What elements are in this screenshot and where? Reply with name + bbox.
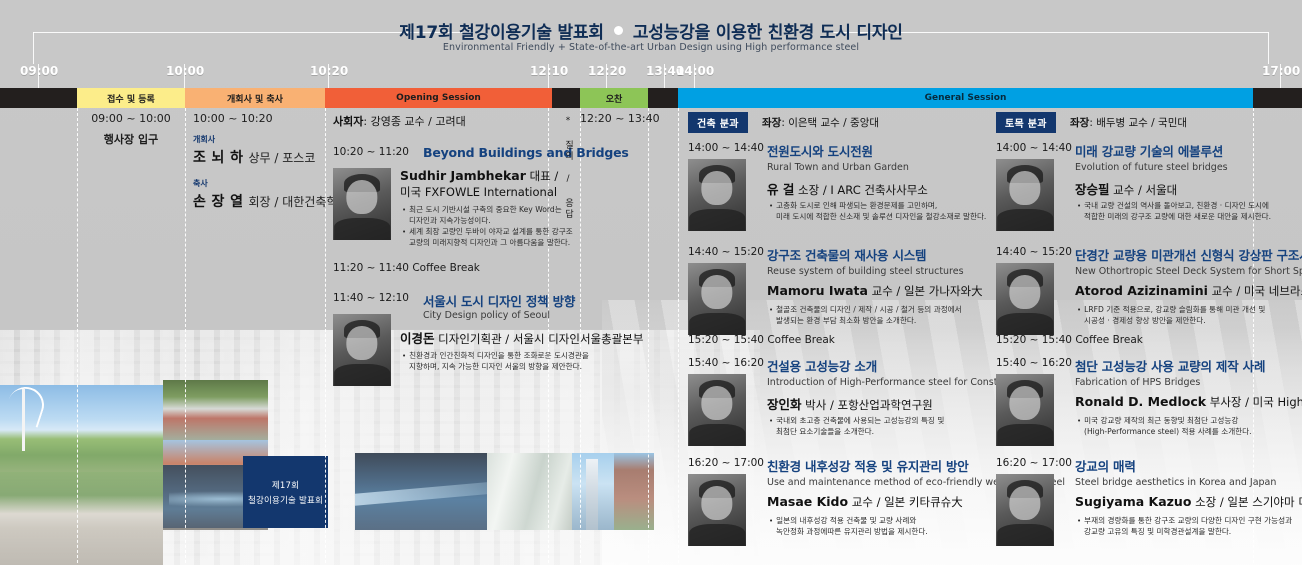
registration-time: 09:00 ~ 10:00 (77, 112, 185, 125)
opening-session-0-portrait (333, 168, 391, 240)
separator-7 (678, 108, 679, 563)
timeline-tick-0900 (38, 64, 39, 88)
poster-header: 제17회 철강이용기술 발표회 고성능강을 이용한 친환경 도시 디자인 Env… (0, 0, 1302, 62)
bullet: 세계 최장 교량인 두바이 야자교 설계를 통한 강구조 (402, 226, 573, 237)
circle-dot-icon (614, 26, 623, 35)
photo-wind-farm (0, 385, 163, 475)
title-event-name: 제17회 철강이용기술 발표회 (399, 18, 604, 43)
page-subtitle: Environmental Friendly + State-of-the-ar… (0, 42, 1302, 53)
arch-session-1-portrait (688, 263, 746, 335)
remarks-item-1: 축사 손 장 열 회장 / 대한건축학회 (193, 178, 321, 211)
bullet: 고층화 도시로 인해 파생되는 환경문제를 고민하며, (769, 200, 986, 211)
bullet: 최근 도시 기반시설 구축의 중요한 Key Word는 (402, 204, 573, 215)
opening-session-1-speaker: 이경돈 디자인기획관 / 서울시 디자인서울총괄본부 (400, 328, 643, 347)
remarks-name-0: 조 뇌 하 (193, 150, 243, 166)
separator-6 (648, 108, 649, 563)
arch-session-2-time: 15:40 ~ 16:20 (688, 357, 764, 369)
bullet: 일본의 내후성강 적용 건축물 및 교량 사례와 (769, 515, 928, 526)
civil-session-0-bullets: 국내 교량 건설의 역사를 돌아보고, 친환경 · 디자인 도시에 적합한 미래… (1077, 200, 1271, 222)
timeline-tick-1340 (664, 64, 665, 88)
opening-session-1-portrait (333, 314, 391, 386)
bullet: 친환경과 인간친화적 디자인을 통한 조화로운 도시경관을 (402, 350, 589, 361)
separator-2 (185, 108, 186, 563)
segment-general-session[interactable]: General Session (678, 88, 1253, 108)
opening-moderator-label: 사회자 (333, 115, 363, 128)
arch-session-2-bullets: 국내외 초고층 건축물에 사용되는 고성능강의 특징 및 최첨단 요소기술들을 … (769, 415, 944, 437)
civil-session-3-time: 16:20 ~ 17:00 (996, 457, 1072, 469)
bullet: 최첨단 요소기술들을 소개한다. (769, 426, 944, 437)
arch-session-0-speaker-name: 유 걸 (767, 182, 794, 197)
opening-coffee-break: 11:20 ~ 11:40 Coffee Break (333, 262, 480, 274)
arch-session-0-en-title: Rural Town and Urban Garden (767, 162, 909, 173)
opening-session-1-time: 11:40 ~ 12:10 (333, 292, 409, 304)
timeline-tick-1000 (184, 64, 185, 88)
remarks-role-0: 개회사 (193, 134, 321, 145)
arch-session-1-speaker-rest: 교수 / 일본 가나자와大 (872, 284, 983, 298)
arch-session-2-speaker-rest: 박사 / 포항산업과학연구원 (805, 398, 933, 412)
arch-session-3-title: 친환경 내후성강 적용 및 유지관리 방안 (767, 456, 969, 475)
registration-place: 행사장 입구 (77, 131, 185, 147)
bullet: 디자인과 지속가능성이다. (402, 215, 573, 226)
bullet: 강교량 고유의 특징 및 미학경관설계을 말한다. (1077, 526, 1292, 537)
timeline-tick-1020 (328, 64, 329, 88)
bullet: 미국 강교량 제작의 최근 동향및 최첨단 고성능강 (1077, 415, 1252, 426)
opening-session-0-title: Beyond Buildings and Bridges (423, 145, 629, 160)
track-arch-chair-label: 좌장 (762, 117, 781, 129)
arch-session-0-portrait (688, 159, 746, 231)
civil-session-2-portrait (996, 374, 1054, 446)
separator-1 (77, 108, 78, 563)
poster-root: 제17회 철강이용기술 발표회 제17회 철강이용기술 발표회 고성능강을 이용… (0, 0, 1302, 565)
opening-session-0-time: 10:20 ~ 11:20 (333, 146, 409, 158)
arch-session-1-en-title: Reuse system of building steel structure… (767, 266, 964, 277)
arch-session-3-bullets: 일본의 내후성강 적용 건축물 및 교량 사례와 녹안정화 과정에따른 유지관리… (769, 515, 928, 537)
arch-session-0-speaker: 유 걸 소장 / I ARC 건축사사무소 (767, 179, 928, 198)
bullet: 녹안정화 과정에따른 유지관리 방법을 제시한다. (769, 526, 928, 537)
opening-session-0-affil: 미국 FXFOWLE International (400, 184, 557, 200)
bullet: 미래 도시에 적합한 신소재 및 솔루션 디자인을 철강소재로 말한다. (769, 211, 986, 222)
opening-session-0-speaker: Sudhir Jambhekar 대표 / (400, 168, 558, 184)
civil-session-3-portrait (996, 474, 1054, 546)
timeline-label-1000: 10:00 (166, 64, 204, 78)
arch-session-2-speaker-name: 장인화 (767, 397, 802, 412)
segment-lunch[interactable]: 오찬 (580, 88, 648, 108)
timeline-label-1700: 17:00 (1262, 64, 1300, 78)
arch-session-0-bullets: 고층화 도시로 인해 파생되는 환경문제를 고민하며, 미래 도시에 적합한 신… (769, 200, 986, 222)
civil-coffee-break: 15:20 ~ 15:40 Coffee Break (996, 334, 1143, 346)
civil-session-3-en-title: Steel bridge aesthetics in Korea and Jap… (1075, 477, 1276, 488)
arch-session-1-title: 강구조 건축물의 재사용 시스템 (767, 245, 926, 264)
arch-session-3-speaker-rest: 교수 / 일본 키타큐슈大 (852, 495, 963, 509)
page-title: 제17회 철강이용기술 발표회 고성능강을 이용한 친환경 도시 디자인 (0, 18, 1302, 43)
track-arch-chip: 건축 분과 (688, 112, 748, 133)
bullet: 부재의 경량화를 통한 강구조 교량의 다양한 디자인 구현 가능성과 (1077, 515, 1292, 526)
segment-opening-remarks[interactable]: 개회사 및 축사 (185, 88, 325, 108)
bullet: 적합한 미래의 강구조 교량에 대한 새로운 대안을 제시한다. (1077, 211, 1271, 222)
arch-session-1-bullets: 철골조 건축물의 디자인 / 제작 / 시공 / 철거 등의 과정에서 발생되는… (769, 304, 962, 326)
civil-session-0-portrait (996, 159, 1054, 231)
segment-registration[interactable]: 접수 및 등록 (77, 88, 185, 108)
timeline-label-0900: 09:00 (20, 64, 58, 78)
civil-session-0-time: 14:00 ~ 14:40 (996, 142, 1072, 154)
timeline-tick-1400 (694, 64, 695, 88)
timeline-label-1220: 12:20 (588, 64, 626, 78)
civil-session-2-speaker-rest: 부사장 / 미국 High Steel Structures, Inc. (1210, 395, 1302, 409)
arch-session-1-speaker-name: Mamoru Iwata (767, 283, 868, 298)
track-arch-chair-value: : 이은택 교수 / 중앙대 (781, 117, 879, 129)
photo-eco-houses (163, 380, 268, 440)
timeline-label-1400: 14:00 (676, 64, 714, 78)
civil-session-1-title: 단경간 교량용 미관개선 신형식 강상판 구조시스템 (1075, 245, 1302, 264)
civil-session-0-en-title: Evolution of future steel bridges (1075, 162, 1228, 173)
civil-session-0-speaker: 장승필 교수 / 서울대 (1075, 179, 1177, 198)
bullet: 철골조 건축물의 디자인 / 제작 / 시공 / 철거 등의 과정에서 (769, 304, 962, 315)
column-registration: 09:00 ~ 10:00 행사장 입구 (77, 112, 185, 147)
bullet: 교량의 미래지향적 디자인과 그 아름다움을 말한다. (402, 237, 573, 248)
track-civil-chair: 좌장: 배두병 교수 / 국민대 (1070, 115, 1187, 130)
opening-session-1-speaker-title: 디자인기획관 / 서울시 디자인서울총괄본부 (438, 332, 643, 346)
civil-session-1-en-title: New Othortropic Steel Deck System for Sh… (1075, 266, 1302, 277)
column-opening-remarks: 10:00 ~ 10:20 개회사 조 뇌 하 상무 / 포스코 축사 손 장 … (193, 112, 321, 211)
remarks-time: 10:00 ~ 10:20 (193, 112, 321, 125)
timeline-label-1210: 12:10 (530, 64, 568, 78)
photo-skyscraper (572, 453, 614, 530)
civil-session-0-title: 미래 강교량 기술의 에볼루션 (1075, 141, 1223, 160)
arch-session-3-portrait (688, 474, 746, 546)
column-lunch: 12:20 ~ 13:40 (580, 112, 648, 125)
timeline-tick-1220 (606, 64, 607, 88)
opening-moderator: 사회자: 강영종 교수 / 고려대 (333, 113, 466, 129)
remarks-item-0: 개회사 조 뇌 하 상무 / 포스코 (193, 134, 321, 167)
remarks-title-0: 상무 / 포스코 (248, 151, 315, 165)
civil-session-2-speaker-name: Ronald D. Medlock (1075, 394, 1206, 409)
bullet: LRFD 기준 적용으로, 강교량 슬림화를 통해 미관 개선 및 (1077, 304, 1265, 315)
timeline-tick-1700 (1280, 64, 1281, 88)
bullet: 지향하며, 지속 가능한 디자인 서울의 방향을 제안한다. (402, 361, 589, 372)
segment-opening-session[interactable]: Opening Session (325, 88, 552, 108)
arch-coffee-break: 15:20 ~ 15:40 Coffee Break (688, 334, 835, 346)
qa-note-vertical: * 질의 / 응답 (556, 116, 572, 220)
opening-session-0-bullets: 최근 도시 기반시설 구축의 중요한 Key Word는 디자인과 지속가능성이… (402, 204, 573, 248)
arch-session-0-time: 14:00 ~ 14:40 (688, 142, 764, 154)
civil-session-0-speaker-name: 장승필 (1075, 182, 1110, 197)
opening-session-1-speaker-name: 이경돈 (400, 331, 435, 346)
arch-session-0-speaker-rest: 소장 / I ARC 건축사사무소 (798, 183, 928, 197)
arch-session-1-time: 14:40 ~ 15:20 (688, 246, 764, 258)
lunch-time: 12:20 ~ 13:40 (580, 112, 648, 125)
photo-village (0, 472, 163, 565)
arch-session-3-speaker: Masae Kido 교수 / 일본 키타큐슈大 (767, 494, 963, 510)
bullet: 국내 교량 건설의 역사를 돌아보고, 친환경 · 디자인 도시에 (1077, 200, 1271, 211)
opening-session-0-speaker-title: 대표 / (530, 169, 559, 183)
track-civil-chair-value: : 배두병 교수 / 국민대 (1089, 117, 1187, 129)
track-civil-chair-label: 좌장 (1070, 117, 1089, 129)
civil-session-2-bullets: 미국 강교량 제작의 최근 동향및 최첨단 고성능강 (High-Perform… (1077, 415, 1252, 437)
arch-session-3-time: 16:20 ~ 17:00 (688, 457, 764, 469)
bullet: (High-Performance steel) 적용 사례를 소개한다. (1077, 426, 1252, 437)
arch-session-1-speaker: Mamoru Iwata 교수 / 일본 가나자와大 (767, 283, 983, 299)
civil-session-3-speaker: Sugiyama Kazuo 소장 / 일본 스기야마 디자인 연구소 (1075, 494, 1302, 510)
arch-session-2-speaker: 장인화 박사 / 포항산업과학연구원 (767, 394, 933, 413)
civil-session-2-time: 15:40 ~ 16:20 (996, 357, 1072, 369)
separator-3 (325, 108, 326, 563)
civil-session-1-speaker: Atorod Azizinamini 교수 / 미국 네브라스카大 (1075, 283, 1302, 299)
bullet: 시공성 · 경제성 향상 방안을 제안한다. (1077, 315, 1265, 326)
track-civil-chip: 토목 분과 (996, 112, 1056, 133)
timeline-label-1020: 10:20 (310, 64, 348, 78)
civil-session-0-speaker-rest: 교수 / 서울대 (1113, 183, 1177, 197)
civil-session-2-title: 첨단 고성능강 사용 교량의 제작 사례 (1075, 356, 1265, 375)
track-arch-chair: 좌장: 이은택 교수 / 중앙대 (762, 115, 879, 130)
arch-session-2-title: 건설용 고성능강 소개 (767, 356, 877, 375)
montage-badge-line2: 철강이용기술 발표회 (248, 494, 323, 506)
opening-session-1-bullets: 친환경과 인간친화적 디자인을 통한 조화로운 도시경관을 지향하며, 지속 가… (402, 350, 589, 372)
opening-session-1-en-title: City Design policy of Seoul (423, 310, 550, 321)
civil-session-1-time: 14:40 ~ 15:20 (996, 246, 1072, 258)
civil-session-3-speaker-rest: 소장 / 일본 스기야마 디자인 연구소 (1195, 495, 1302, 509)
arch-session-2-portrait (688, 374, 746, 446)
opening-moderator-value: : 강영종 교수 / 고려대 (363, 115, 465, 128)
photo-shell-structure (487, 453, 572, 530)
montage-badge: 제17회 철강이용기술 발표회 (243, 456, 328, 528)
montage-badge-line1: 제17회 (272, 479, 299, 491)
timeline-labels: 09:0010:0010:2012:1012:2013:4014:0017:00 (0, 64, 1302, 86)
opening-session-1-title: 서울시 도시 디자인 정책 방향 (423, 291, 575, 310)
civil-session-1-speaker-rest: 교수 / 미국 네브라스카大 (1212, 284, 1302, 298)
title-theme: 고성능강을 이용한 친환경 도시 디자인 (633, 18, 903, 43)
arch-session-0-title: 전원도시와 도시전원 (767, 141, 873, 160)
timeline-tick-1210 (548, 64, 549, 88)
arch-session-2-en-title: Introduction of High-Performance steel f… (767, 377, 1031, 388)
civil-session-3-title: 강교의 매력 (1075, 456, 1136, 475)
arch-session-3-speaker-name: Masae Kido (767, 494, 848, 509)
civil-session-1-portrait (996, 263, 1054, 335)
civil-session-2-speaker: Ronald D. Medlock 부사장 / 미국 High Steel St… (1075, 394, 1302, 410)
civil-session-1-speaker-name: Atorod Azizinamini (1075, 283, 1208, 298)
remarks-role-1: 축사 (193, 178, 321, 189)
bullet: 발생되는 환경 부담 최소화 방안을 소개한다. (769, 315, 962, 326)
bullet: 국내외 초고층 건축물에 사용되는 고성능강의 특징 및 (769, 415, 944, 426)
civil-session-2-en-title: Fabrication of HPS Bridges (1075, 377, 1200, 388)
opening-session-0-speaker-name: Sudhir Jambhekar (400, 168, 526, 183)
remarks-name-1: 손 장 열 (193, 194, 243, 210)
civil-session-3-speaker-name: Sugiyama Kazuo (1075, 494, 1191, 509)
civil-session-1-bullets: LRFD 기준 적용으로, 강교량 슬림화를 통해 미관 개선 및 시공성 · … (1077, 304, 1265, 326)
civil-session-3-bullets: 부재의 경량화를 통한 강구조 교량의 다양한 디자인 구현 가능성과 강교량 … (1077, 515, 1292, 537)
